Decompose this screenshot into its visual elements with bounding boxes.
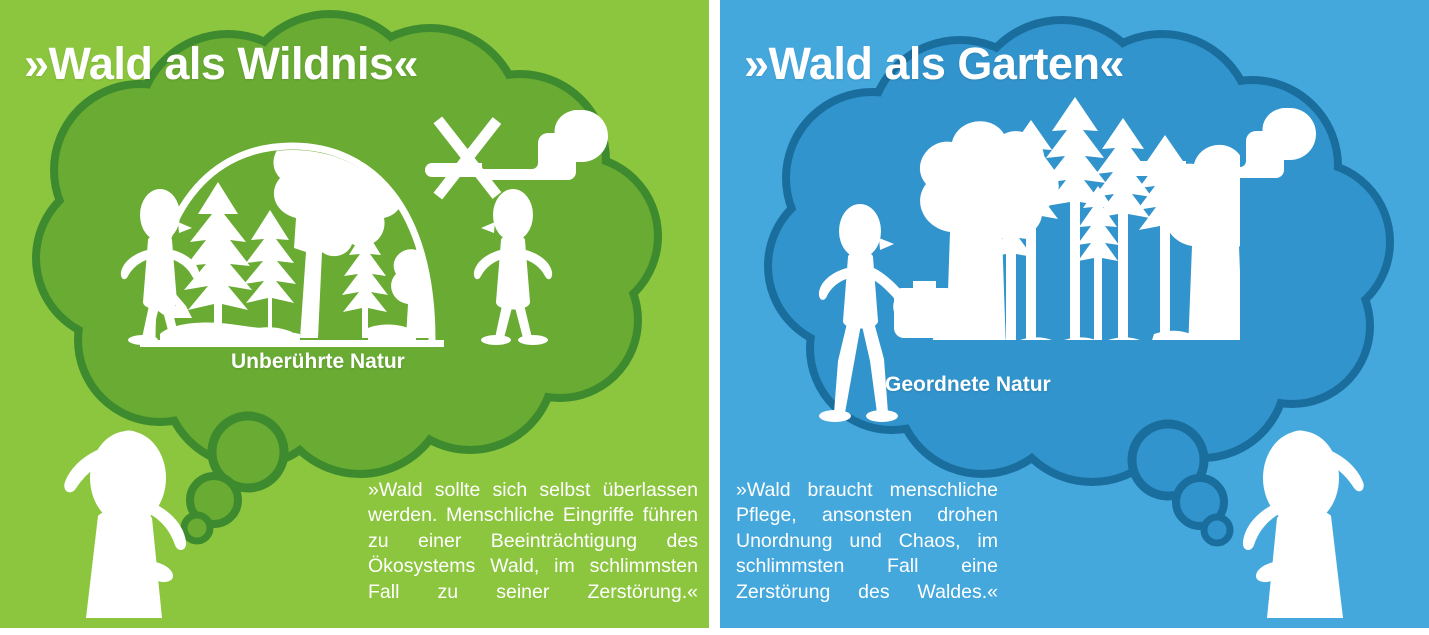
managed-conifer-stand-icon [920, 97, 1290, 356]
page-title-wildnis: »Wald als Wildnis« [24, 38, 418, 90]
person-thinking-icon [65, 430, 186, 618]
thought-trail-bubbles [1132, 424, 1230, 543]
quote-wildnis: »Wald sollte sich selbst überlassen werd… [368, 478, 698, 629]
quote-garten: »Wald braucht menschliche Pflege, ansons… [736, 478, 998, 629]
panel-wald-als-garten: »Wald als Garten« Geordnete Natur »Wald … [720, 0, 1429, 628]
thought-bubble-garten [772, 24, 1386, 478]
person-thinking-icon [1243, 430, 1364, 618]
bubble-caption-wildnis: Unberührte Natur [231, 350, 405, 374]
page-title-garten: »Wald als Garten« [744, 38, 1124, 90]
person-hands-on-hips-icon-right [474, 189, 552, 345]
comparison-board: »Wald als Wildnis« Unberührte Natur »Wal… [0, 0, 1429, 635]
panel-wald-als-wildnis: »Wald als Wildnis« Unberührte Natur »Wal… [0, 0, 709, 628]
chainsaw-crossed-out-icon [425, 110, 608, 200]
forest-under-glass-dome-icon [140, 118, 468, 347]
person-hands-on-hips-icon-left [121, 189, 199, 345]
thought-trail-bubbles [184, 416, 284, 541]
bubble-caption-garten: Geordnete Natur [885, 373, 1051, 397]
chainsaw-icon [1131, 108, 1316, 178]
